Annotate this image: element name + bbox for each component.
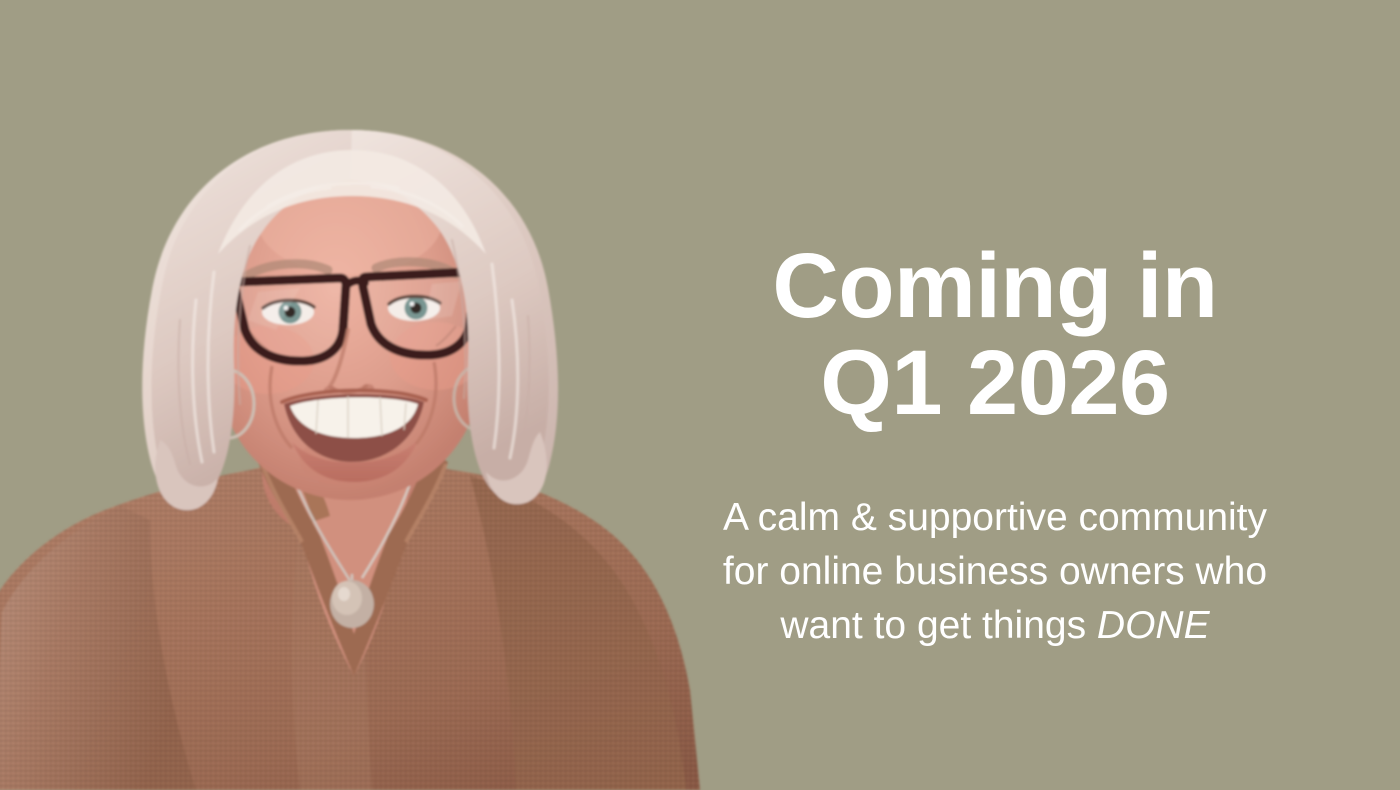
subtitle-line-1: A calm & supportive community (723, 496, 1267, 539)
page-title: Coming in Q1 2026 (700, 238, 1290, 433)
portrait-photo (0, 0, 720, 790)
promo-slide: Coming in Q1 2026 A calm & supportive co… (0, 0, 1400, 790)
subtitle-line-2: for online business owners who (723, 550, 1267, 593)
subtitle: A calm & supportive community for online… (700, 491, 1290, 652)
subtitle-line-3-prefix: want to get things (780, 604, 1097, 647)
subtitle-emphasis: DONE (1097, 604, 1210, 647)
text-column: Coming in Q1 2026 A calm & supportive co… (700, 0, 1400, 790)
